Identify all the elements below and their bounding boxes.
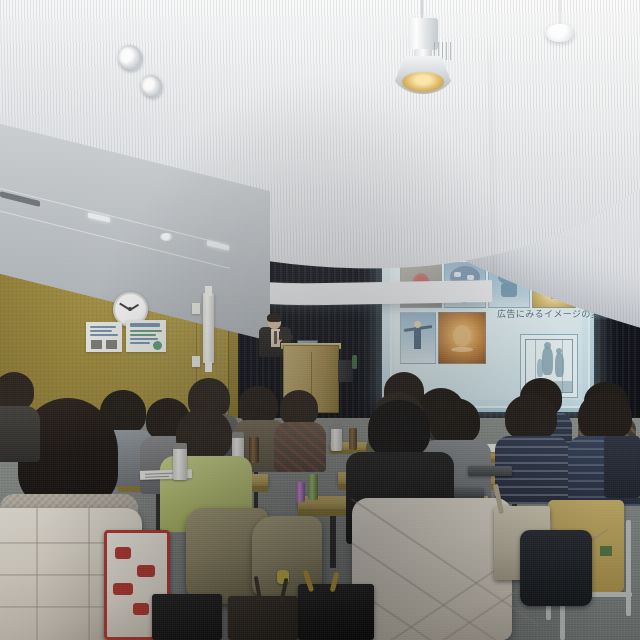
thermos-cap: [232, 432, 244, 438]
ad-poster-6: [438, 312, 486, 364]
ceiling-speaker-dome: [546, 24, 574, 42]
drink-bottle-green: [308, 474, 318, 500]
black-tablet: [468, 466, 512, 476]
pendant-lamp: [388, 0, 458, 94]
thermos-cap: [173, 443, 187, 449]
notice-poster-left: [86, 322, 122, 352]
presenter-hair: [267, 313, 282, 322]
black-handbag: [298, 584, 374, 640]
stage-monitor-speaker: [338, 360, 353, 382]
pendant-cord: [421, 0, 423, 20]
back-wall-equipment: [604, 436, 640, 498]
pendant-housing: [408, 18, 438, 50]
pendant-bulb-glow: [402, 72, 444, 92]
thermos-cap: [331, 424, 342, 429]
wall-outlet-plate: [192, 303, 200, 314]
ceiling-speaker: [543, 0, 577, 46]
floor-bag-left: [152, 594, 222, 640]
wall-speaker: [203, 293, 214, 363]
lecture-hall-photo: 広告にみるイメージの変遷: [0, 0, 640, 640]
ad-poster-5: [400, 312, 436, 364]
drink-bottle-brown: [249, 437, 259, 463]
ceiling-speaker-stem: [559, 0, 561, 26]
desk-leg: [330, 516, 336, 568]
chair-label-sticker: [600, 546, 612, 556]
wall-speaker-cap: [205, 362, 212, 372]
drink-bottle-brown: [349, 428, 357, 450]
white-thermos: [173, 446, 187, 480]
beige-puffer-coat-right: [352, 498, 512, 640]
recessed-downlight: [160, 233, 173, 241]
microphone-icon: [279, 331, 282, 340]
wall-outlet-plate: [192, 356, 200, 367]
wall-speaker-cap: [205, 286, 212, 296]
notice-poster-right: [126, 320, 166, 352]
dark-backpack: [520, 530, 592, 606]
chair-frame: [626, 520, 631, 616]
floor-bag: [228, 596, 298, 640]
stage-bottle: [352, 355, 357, 369]
juice-carton: [296, 482, 305, 502]
